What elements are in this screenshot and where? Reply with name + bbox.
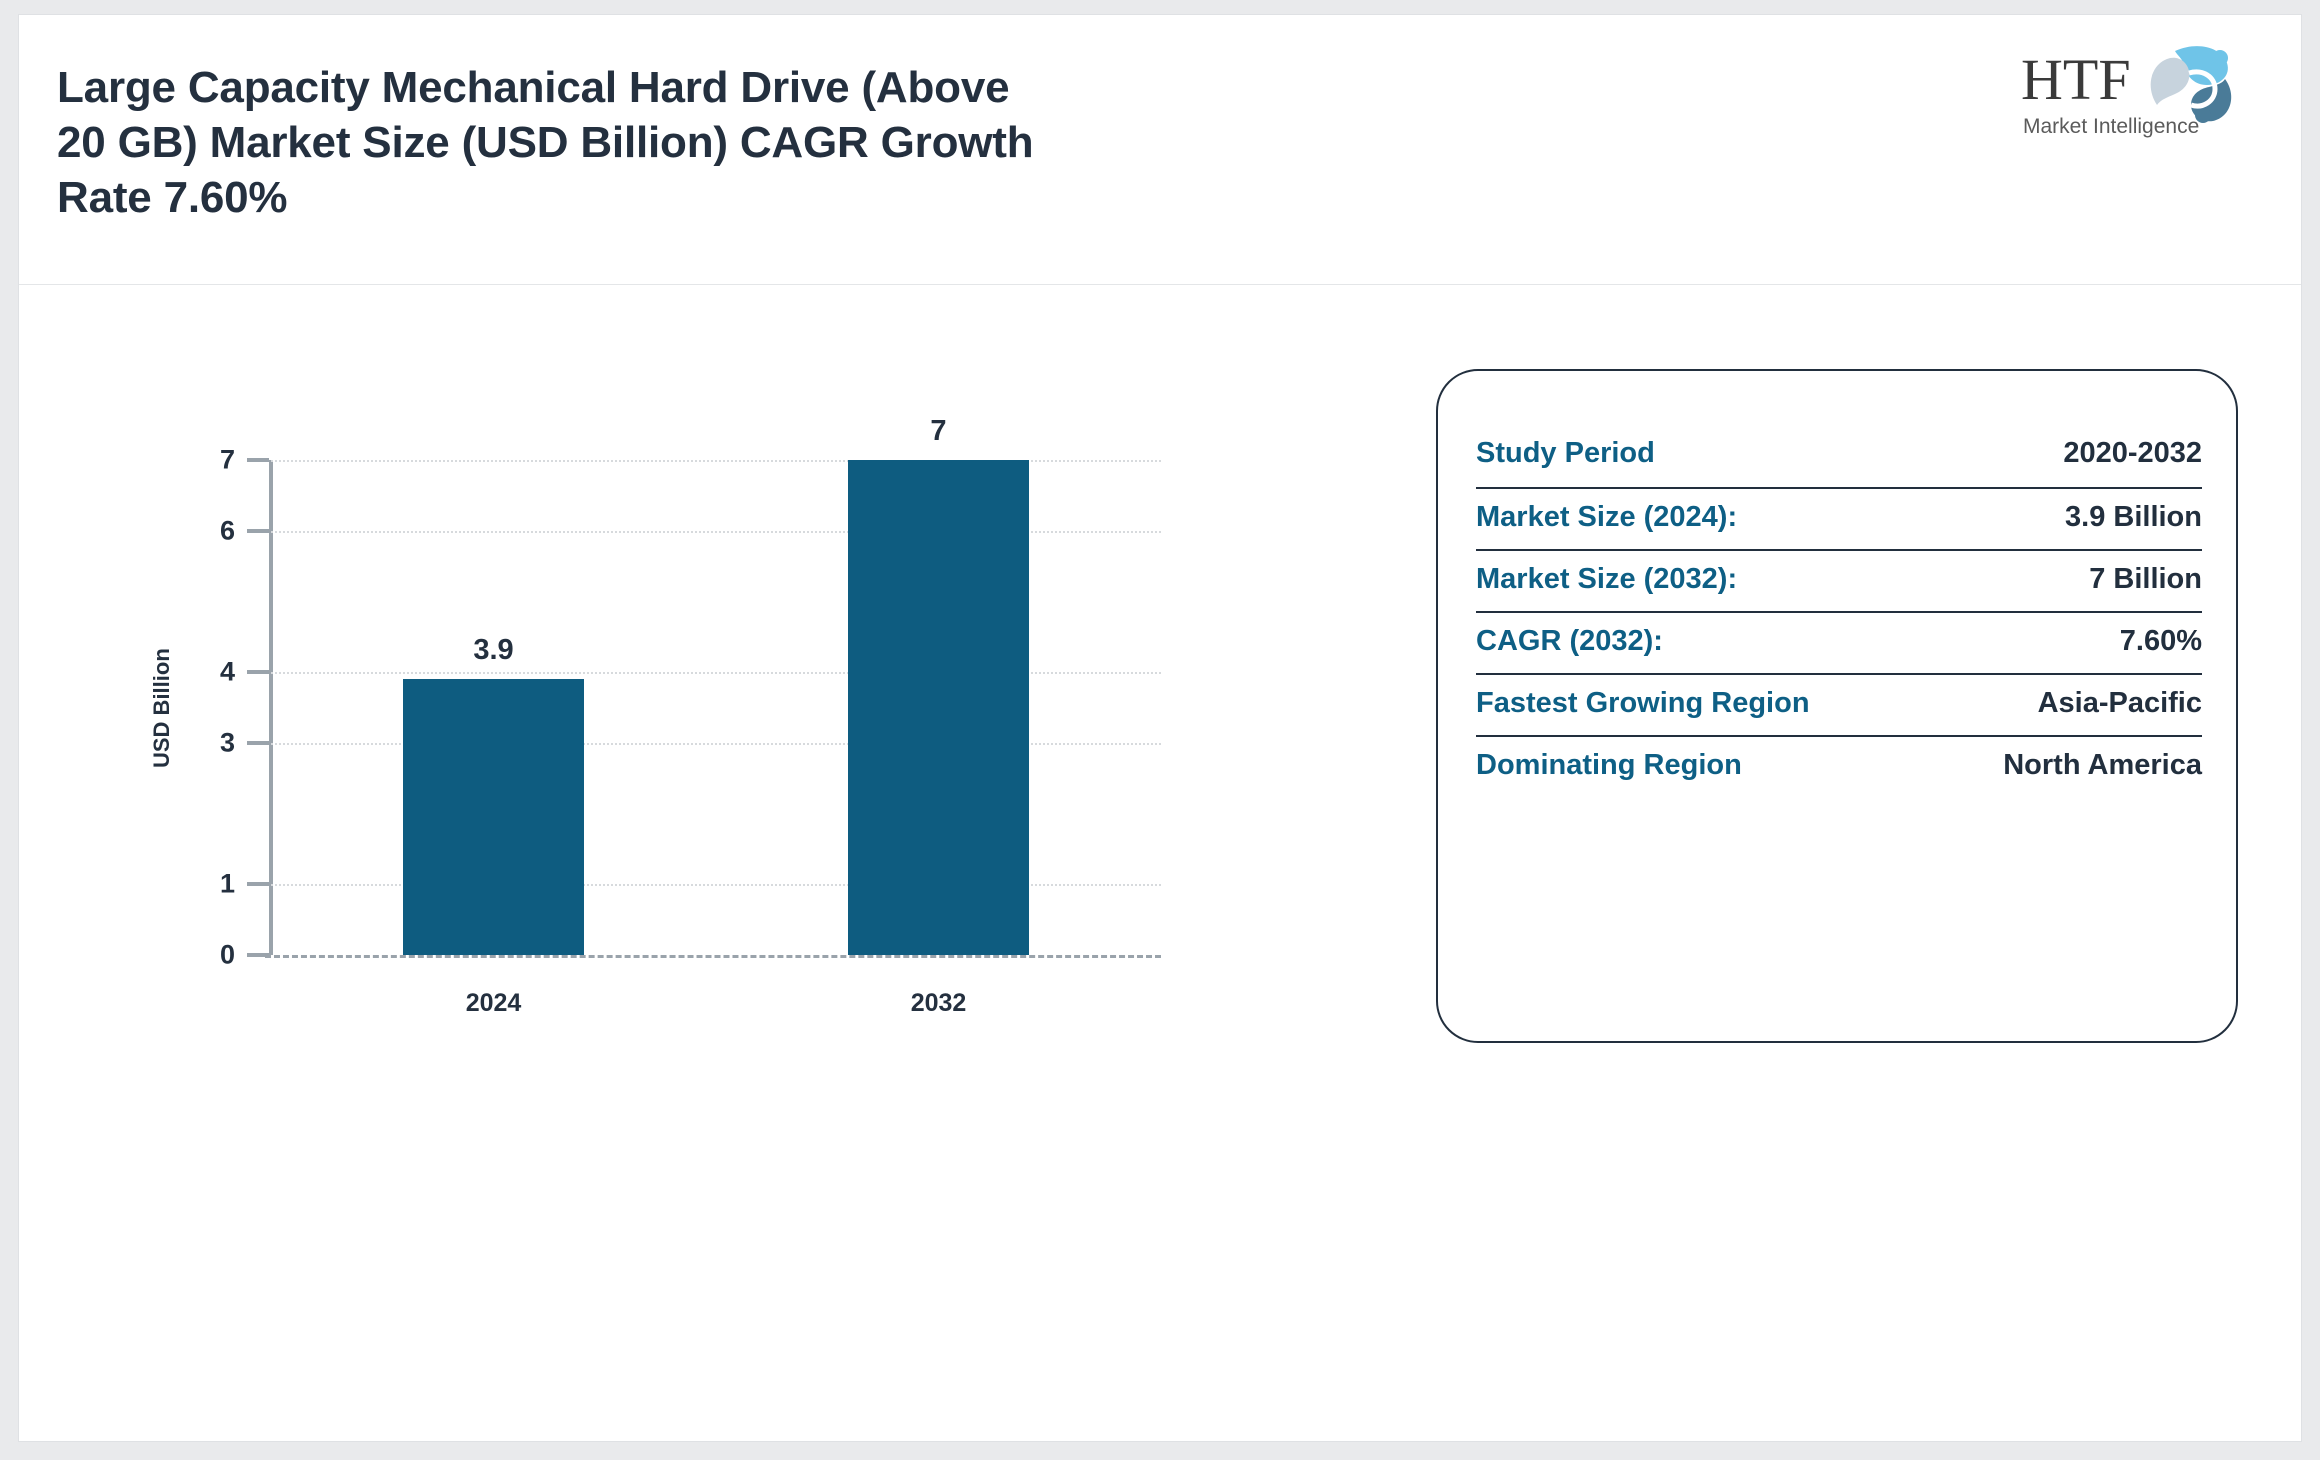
- y-axis-label: USD Billion: [149, 648, 175, 768]
- y-axis-tick-label: 6: [175, 515, 235, 546]
- market-summary-panel: Study Period2020-2032Market Size (2024):…: [1436, 369, 2238, 1043]
- report-card: Large Capacity Mechanical Hard Drive (Ab…: [18, 14, 2302, 1442]
- info-row: Market Size (2032):7 Billion: [1476, 549, 2202, 611]
- bar-value-label: 3.9: [403, 634, 584, 667]
- info-row-label: Dominating Region: [1476, 749, 1742, 782]
- bar[interactable]: [848, 460, 1029, 955]
- info-row-label: Study Period: [1476, 437, 1655, 470]
- y-axis-tick: [247, 529, 269, 533]
- htf-market-intelligence-logo: HTF Market Intelligence: [2007, 37, 2257, 145]
- info-row: Dominating RegionNorth America: [1476, 735, 2202, 797]
- info-row-value: 7 Billion: [2089, 563, 2202, 596]
- y-axis-tick-label: 0: [175, 940, 235, 971]
- page-title-line-2: 20 GB) Market Size (USD Billion) CAGR Gr…: [57, 121, 1417, 165]
- bar[interactable]: [403, 679, 584, 955]
- header: Large Capacity Mechanical Hard Drive (Ab…: [19, 15, 2301, 285]
- y-axis-tick-label: 7: [175, 445, 235, 476]
- page-title: Large Capacity Mechanical Hard Drive (Ab…: [57, 66, 1417, 231]
- info-row-value: 2020-2032: [2063, 437, 2202, 470]
- y-axis-tick-label: 4: [175, 657, 235, 688]
- info-row-label: Market Size (2024):: [1476, 501, 1737, 534]
- y-axis-tick: [247, 882, 269, 886]
- info-row: Fastest Growing RegionAsia-Pacific: [1476, 673, 2202, 735]
- x-axis-tick-label: 2024: [271, 989, 716, 1018]
- info-row-label: Market Size (2032):: [1476, 563, 1737, 596]
- y-axis-tick: [247, 458, 269, 462]
- info-row-value: 7.60%: [2120, 625, 2202, 658]
- info-row-label: Fastest Growing Region: [1476, 687, 1810, 720]
- market-summary-rows: Study Period2020-2032Market Size (2024):…: [1476, 425, 2202, 797]
- y-axis-spine: [269, 460, 273, 955]
- x-axis-tick-label: 2032: [716, 989, 1161, 1018]
- y-axis-tick: [247, 741, 269, 745]
- info-row-value: Asia-Pacific: [2038, 687, 2202, 720]
- bar-value-label: 7: [848, 415, 1029, 448]
- y-axis-tick-label: 3: [175, 727, 235, 758]
- bar-chart: 0134673.9202472032 USD Billion: [19, 285, 1409, 1440]
- y-axis-tick-label: 1: [175, 869, 235, 900]
- svg-text:HTF: HTF: [2021, 47, 2131, 112]
- svg-text:Market Intelligence: Market Intelligence: [2023, 115, 2199, 138]
- x-axis-baseline: [265, 955, 1161, 958]
- info-row-value: 3.9 Billion: [2065, 501, 2202, 534]
- info-row: Market Size (2024):3.9 Billion: [1476, 487, 2202, 549]
- y-axis-tick: [247, 670, 269, 674]
- page-title-line-3: Rate 7.60%: [57, 176, 1417, 220]
- y-axis-tick: [247, 953, 269, 957]
- page-title-line-1: Large Capacity Mechanical Hard Drive (Ab…: [57, 66, 1417, 110]
- plot-area: 0134673.9202472032: [271, 460, 1161, 955]
- info-row: Study Period2020-2032: [1476, 425, 2202, 487]
- info-row-value: North America: [2003, 749, 2202, 782]
- info-row-label: CAGR (2032):: [1476, 625, 1663, 658]
- info-row: CAGR (2032):7.60%: [1476, 611, 2202, 673]
